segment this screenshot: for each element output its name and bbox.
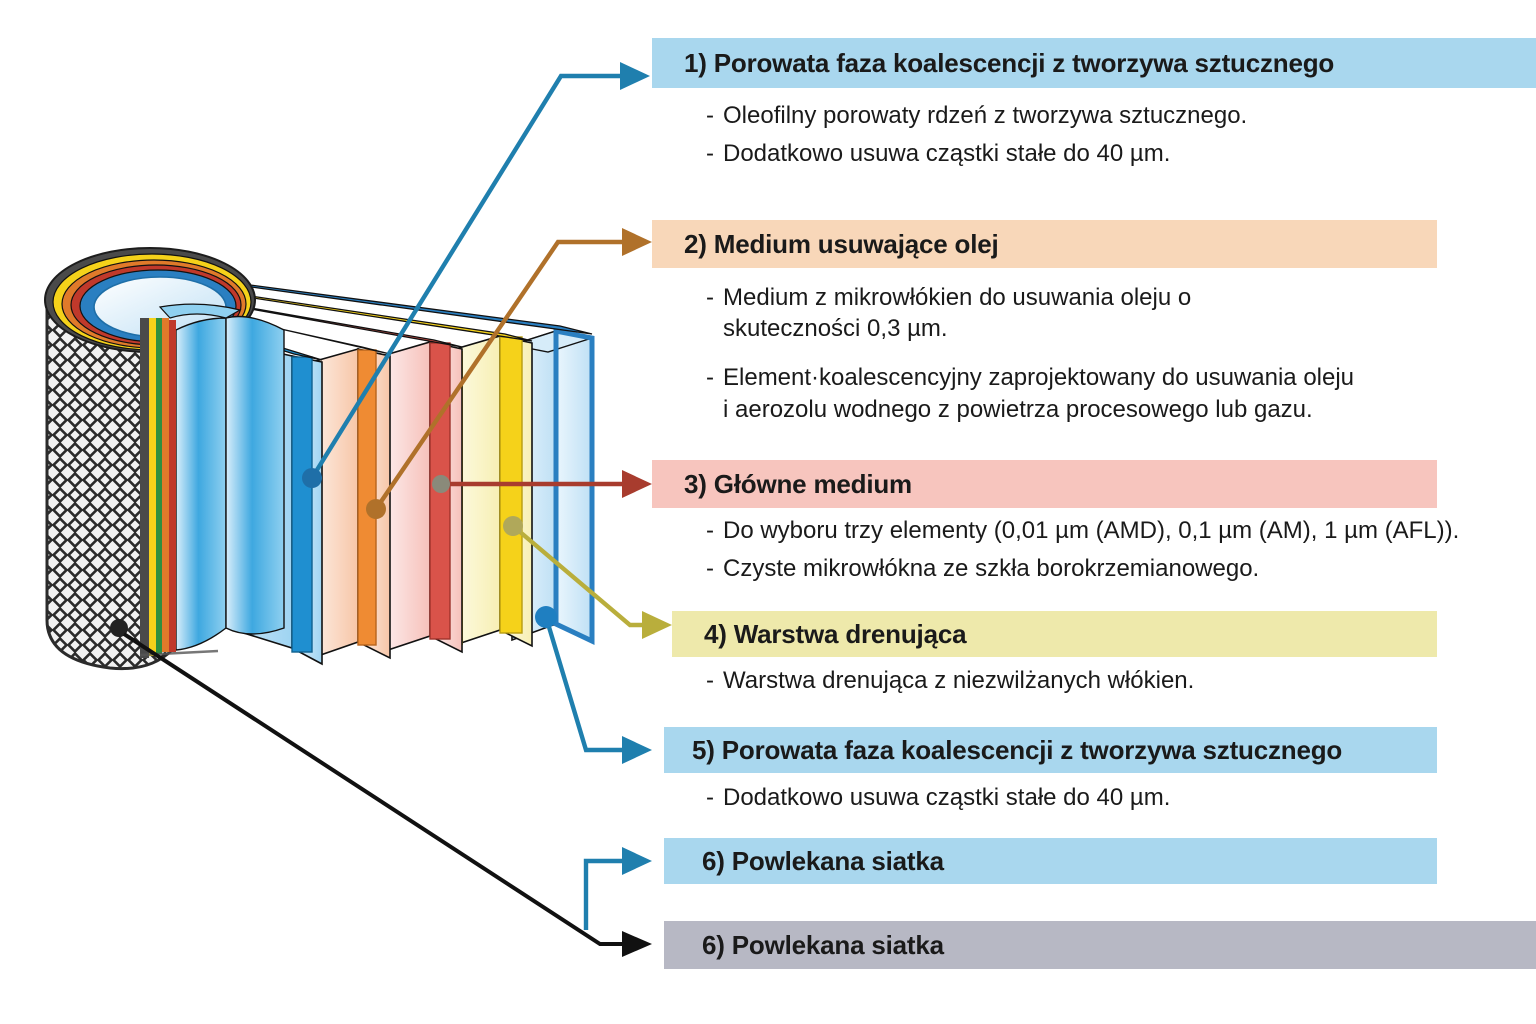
bullet-dash: -: [706, 553, 714, 584]
section-bar-2[interactable]: 2) Medium usuwające olej: [652, 220, 1437, 268]
bullet-item: - Element·koalescencyjny zaprojektowany …: [706, 362, 1354, 424]
section-label-5: 5) Porowata faza koalescencji z tworzywa…: [692, 735, 1342, 766]
section-bar-3[interactable]: 3) Główne medium: [652, 460, 1437, 508]
bullet-item: - Oleofilny porowaty rdzeń z tworzywa sz…: [706, 100, 1247, 131]
bullet-dash: -: [706, 100, 714, 131]
bullet-dash: -: [706, 138, 714, 169]
section-label-6a: 6) Powlekana siatka: [702, 846, 944, 877]
section-bullets-4: - Warstwa drenująca z niezwilżanych włók…: [706, 665, 1194, 703]
diagram-root: 1) Porowata faza koalescencji z tworzywa…: [0, 0, 1536, 1024]
filter-roll: [40, 248, 284, 680]
section-bullets-1: - Oleofilny porowaty rdzeń z tworzywa sz…: [706, 100, 1247, 176]
section-label-1: 1) Porowata faza koalescencji z tworzywa…: [684, 48, 1334, 79]
section-bullets-2: - Medium z mikrowłókien do usuwania olej…: [706, 282, 1354, 432]
bullet-dash: -: [706, 665, 714, 696]
section-label-3: 3) Główne medium: [684, 469, 912, 500]
layer-sheet-4: [452, 336, 532, 646]
section-label-6b: 6) Powlekana siatka: [702, 930, 944, 961]
section-label-2: 2) Medium usuwające olej: [684, 229, 999, 260]
section-bar-1[interactable]: 1) Porowata faza koalescencji z tworzywa…: [652, 38, 1536, 88]
filter-cartridge-illustration: [0, 0, 660, 1024]
bullet-item: - Medium z mikrowłókien do usuwania olej…: [706, 282, 1354, 344]
section-label-4: 4) Warstwa drenująca: [704, 619, 966, 650]
bullet-item: - Dodatkowo usuwa cząstki stałe do 40 µm…: [706, 782, 1170, 813]
roll-edge-stack: [140, 318, 176, 658]
bullet-dash: -: [706, 515, 714, 546]
section-bullets-3: - Do wyboru trzy elementy (0,01 µm (AMD)…: [706, 515, 1459, 591]
section-bullets-5: - Dodatkowo usuwa cząstki stałe do 40 µm…: [706, 782, 1170, 820]
bullet-item: - Czyste mikrowłókna ze szkła borokrzemi…: [706, 553, 1459, 584]
bullet-item: - Dodatkowo usuwa cząstki stałe do 40 µm…: [706, 138, 1247, 169]
layer-sheet-2: [312, 349, 390, 658]
section-bar-6b[interactable]: 6) Powlekana siatka: [664, 921, 1536, 969]
section-bar-5[interactable]: 5) Porowata faza koalescencji z tworzywa…: [664, 727, 1437, 773]
section-bar-4[interactable]: 4) Warstwa drenująca: [672, 611, 1437, 657]
bullet-dash: -: [706, 362, 714, 424]
section-bar-6a[interactable]: 6) Powlekana siatka: [664, 838, 1437, 884]
bullet-dash: -: [706, 782, 714, 813]
bullet-item: - Warstwa drenująca z niezwilżanych włók…: [706, 665, 1194, 696]
bullet-dash: -: [706, 282, 714, 344]
dot-mesh-anchor: [110, 619, 128, 637]
bullet-item: - Do wyboru trzy elementy (0,01 µm (AMD)…: [706, 515, 1459, 546]
layer-sheet-3: [382, 342, 462, 652]
